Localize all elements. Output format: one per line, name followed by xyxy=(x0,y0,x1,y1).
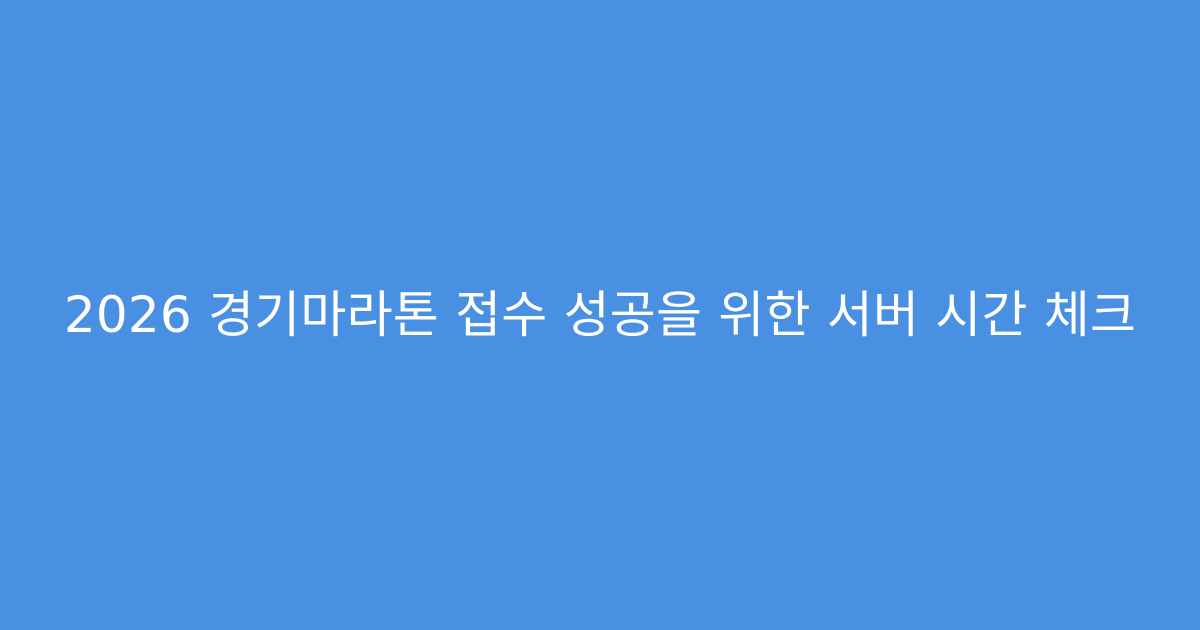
page-title: 2026 경기마라톤 접수 성공을 위한 서버 시간 체크 xyxy=(60,282,1140,348)
og-share-card: 2026 경기마라톤 접수 성공을 위한 서버 시간 체크 xyxy=(0,0,1200,630)
